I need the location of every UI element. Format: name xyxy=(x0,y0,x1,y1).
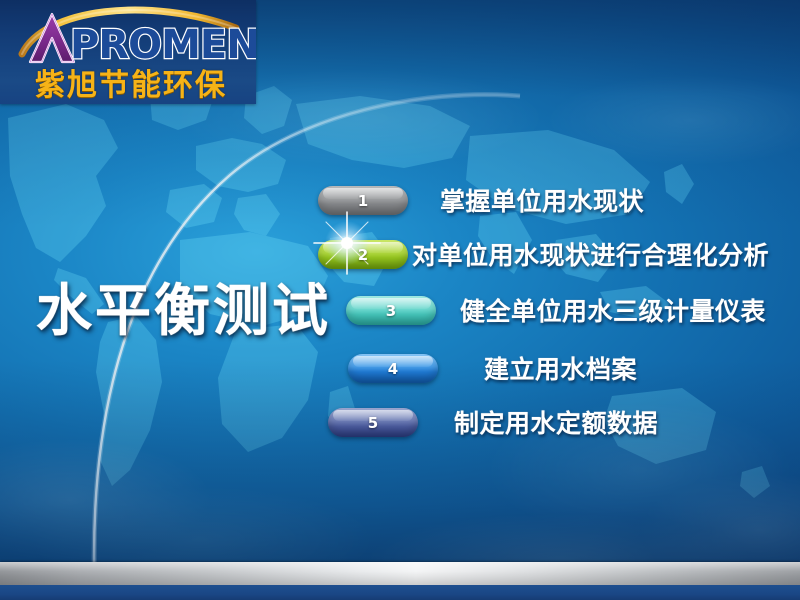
footer-blue-strip xyxy=(0,585,800,600)
list-item-label-5: 制定用水定额数据 xyxy=(454,404,658,440)
step-number-5: 5 xyxy=(328,408,418,437)
list-item-3[interactable]: 3 健全单位用水三级计量仪表 xyxy=(346,292,766,328)
footer-silver-bar xyxy=(0,562,800,585)
list-item-label-2: 对单位用水现状进行合理化分析 xyxy=(412,236,769,272)
list-item-4[interactable]: 4 建立用水档案 xyxy=(348,350,637,386)
list-item-2[interactable]: 2 对单位用水现状进行合理化分析 xyxy=(318,236,769,272)
list-item-5[interactable]: 5 制定用水定额数据 xyxy=(328,404,658,440)
step-badge-4[interactable]: 4 xyxy=(348,354,438,383)
list-item-label-1: 掌握单位用水现状 xyxy=(440,182,644,218)
step-badge-3[interactable]: 3 xyxy=(346,296,436,325)
step-badge-1[interactable]: 1 xyxy=(318,186,408,215)
step-badge-5[interactable]: 5 xyxy=(328,408,418,437)
step-number-2: 2 xyxy=(318,240,408,269)
brand-logo-banner: PROMEN 紫旭节能环保 xyxy=(0,0,256,104)
slide-title: 水平衡测试 xyxy=(36,266,331,347)
list-item-1[interactable]: 1 掌握单位用水现状 xyxy=(318,182,644,218)
list-item-label-4: 建立用水档案 xyxy=(484,350,637,386)
step-number-3: 3 xyxy=(346,296,436,325)
step-number-1: 1 xyxy=(318,186,408,215)
step-badge-2[interactable]: 2 xyxy=(318,240,408,269)
brand-chinese-name: 紫旭节能环保 xyxy=(35,60,227,104)
presentation-slide: PROMEN 紫旭节能环保 水平衡测试 1 掌握单位用水现状 2 对单位用水现状… xyxy=(0,0,800,600)
step-number-4: 4 xyxy=(348,354,438,383)
list-item-label-3: 健全单位用水三级计量仪表 xyxy=(460,292,766,328)
